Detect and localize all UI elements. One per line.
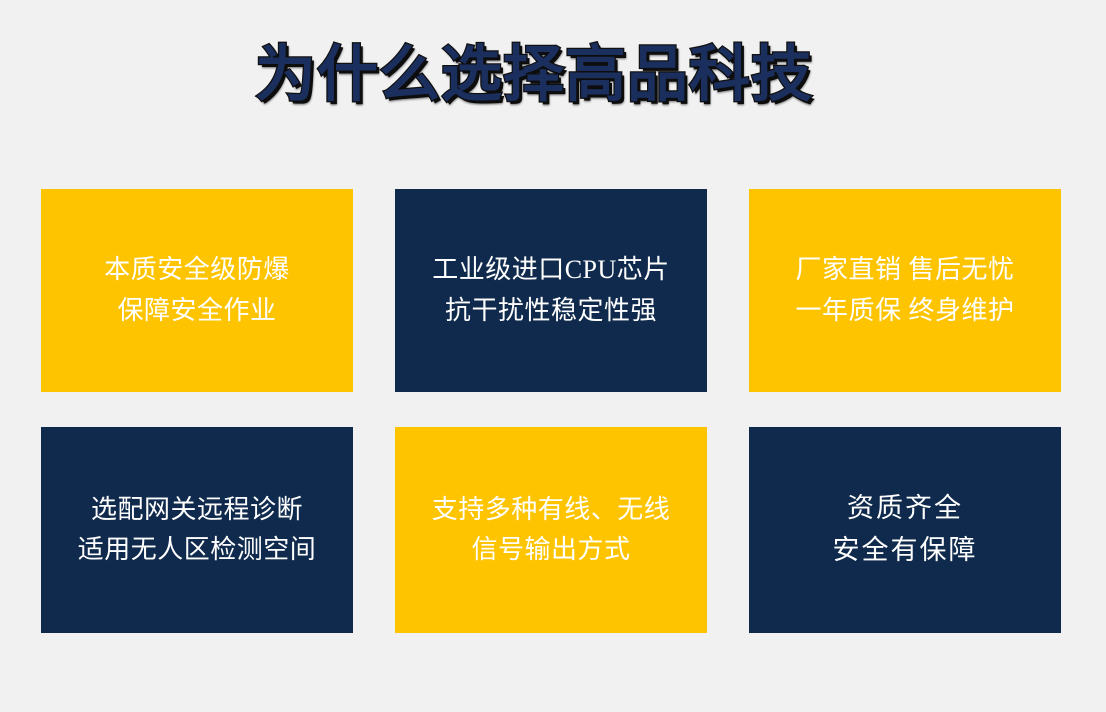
slide-title-container: 为什么选择高品科技 <box>0 42 1068 106</box>
feature-card-1: 本质安全级防爆 保障安全作业 <box>41 189 353 392</box>
feature-card-3: 厂家直销 售后无忧 一年质保 终身维护 <box>749 189 1061 392</box>
feature-card-3-line-2: 一年质保 终身维护 <box>795 291 1014 331</box>
feature-card-5: 支持多种有线、无线 信号输出方式 <box>395 427 707 633</box>
feature-card-2: 工业级进口CPU芯片 抗干扰性稳定性强 <box>395 189 707 392</box>
feature-card-6: 资质齐全 安全有保障 <box>749 427 1061 633</box>
feature-card-6-line-1: 资质齐全 <box>847 488 963 530</box>
feature-card-4-line-2: 适用无人区检测空间 <box>78 530 317 570</box>
feature-card-5-line-2: 信号输出方式 <box>471 530 630 570</box>
feature-card-2-line-2: 抗干扰性稳定性强 <box>445 291 657 331</box>
page-title: 为什么选择高品科技 <box>255 42 813 106</box>
feature-card-4-line-1: 选配网关远程诊断 <box>91 490 303 530</box>
feature-card-3-line-1: 厂家直销 售后无忧 <box>795 250 1014 290</box>
slide-canvas: 为什么选择高品科技 本质安全级防爆 保障安全作业 工业级进口CPU芯片 抗干扰性… <box>0 0 1106 712</box>
feature-card-5-line-1: 支持多种有线、无线 <box>432 490 671 530</box>
feature-card-6-line-2: 安全有保障 <box>833 530 978 572</box>
feature-card-1-line-1: 本质安全级防爆 <box>104 250 290 290</box>
feature-card-grid: 本质安全级防爆 保障安全作业 工业级进口CPU芯片 抗干扰性稳定性强 厂家直销 … <box>41 189 1061 633</box>
feature-card-2-line-1: 工业级进口CPU芯片 <box>432 250 670 290</box>
feature-card-4: 选配网关远程诊断 适用无人区检测空间 <box>41 427 353 633</box>
feature-card-1-line-2: 保障安全作业 <box>117 291 276 331</box>
